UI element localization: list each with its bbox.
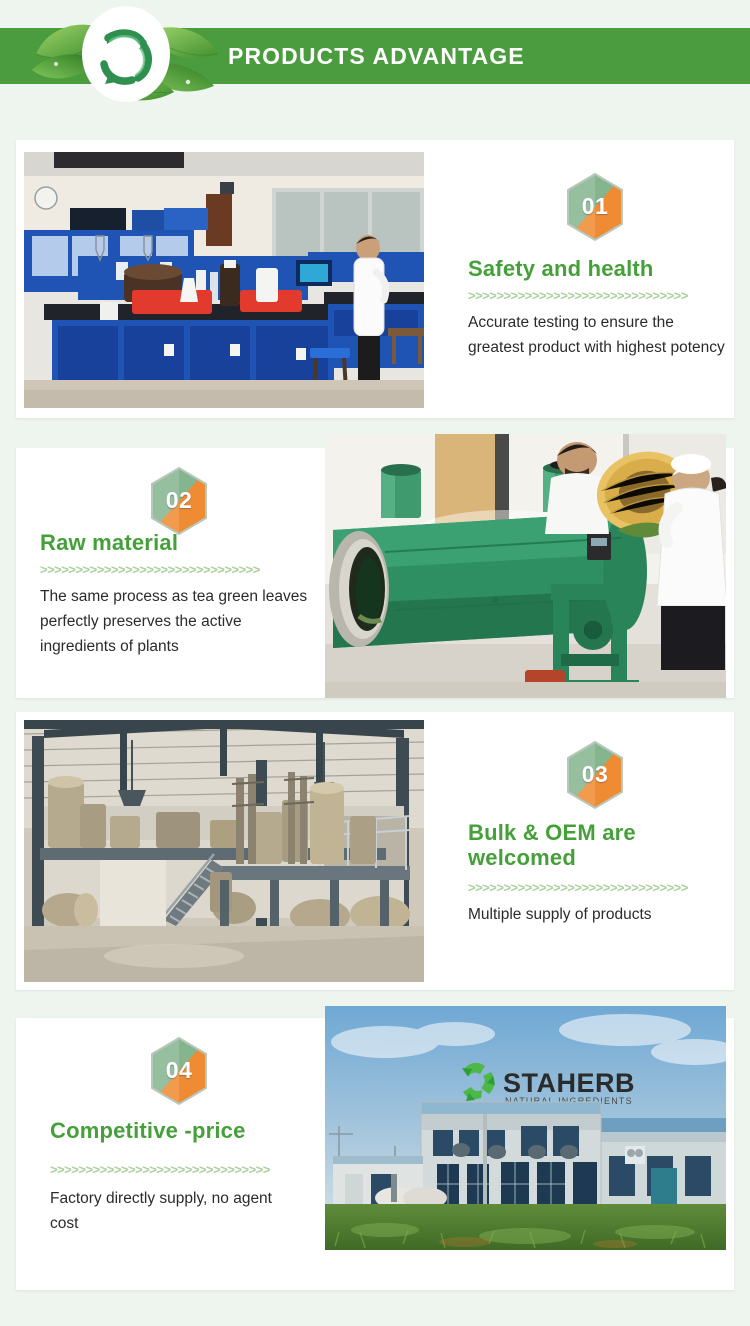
tea-processing-machine-photo	[325, 434, 726, 698]
advantage-card-03: 03 Bulk & OEM are welcomed >>>>>>>>>>>>>…	[16, 712, 734, 990]
advantage-title-02: Raw material	[40, 530, 300, 555]
chevron-divider-03: >>>>>>>>>>>>>>>>>>>>>>>>>>>>>>>	[468, 880, 722, 895]
advantage-content-01: 01 Safety and health >>>>>>>>>>>>>>>>>>>…	[436, 140, 734, 418]
factory-building-exterior-photo: STAHERB NATURAL INGREDIENTS	[325, 1006, 726, 1250]
advantage-content-04: 04 Competitive -price >>>>>>>>>>>>>>>>>>…	[16, 1018, 316, 1290]
advantage-body-04: Factory directly supply, no agent cost	[50, 1186, 300, 1236]
advantage-title-03: Bulk & OEM are welcomed	[468, 820, 698, 870]
advantage-card-02: 02 Raw material >>>>>>>>>>>>>>>>>>>>>>>>…	[16, 448, 734, 698]
badge-number-03: 03	[564, 740, 626, 810]
svg-text:STAHERB: STAHERB	[503, 1068, 635, 1098]
extraction-factory-interior-photo	[24, 720, 424, 982]
badge-hexagon-01: 01	[564, 172, 626, 242]
page-header: PRODUCTS ADVANTAGE	[0, 0, 750, 110]
badge-number-02: 02	[148, 466, 210, 536]
advantage-body-01: Accurate testing to ensure the greatest …	[468, 310, 730, 360]
advantage-title-01: Safety and health	[468, 256, 718, 281]
advantage-card-04: 04 Competitive -price >>>>>>>>>>>>>>>>>>…	[16, 1018, 734, 1290]
advantage-content-03: 03 Bulk & OEM are welcomed >>>>>>>>>>>>>…	[436, 712, 734, 990]
advantage-content-02: 02 Raw material >>>>>>>>>>>>>>>>>>>>>>>>…	[16, 448, 316, 698]
badge-number-04: 04	[148, 1036, 210, 1106]
staherb-leaf-logo	[28, 2, 228, 110]
advantage-body-02: The same process as tea green leaves per…	[40, 584, 320, 659]
advantage-title-04: Competitive -price	[50, 1118, 314, 1143]
advantage-body-03: Multiple supply of products	[468, 902, 718, 927]
laboratory-photo	[24, 152, 424, 408]
badge-hexagon-04: 04	[148, 1036, 210, 1106]
page-title: PRODUCTS ADVANTAGE	[228, 28, 525, 84]
badge-hexagon-02: 02	[148, 466, 210, 536]
chevron-divider-01: >>>>>>>>>>>>>>>>>>>>>>>>>>>>>>>	[468, 288, 722, 303]
chevron-divider-04: >>>>>>>>>>>>>>>>>>>>>>>>>>>>>>>	[50, 1162, 304, 1177]
chevron-divider-02: >>>>>>>>>>>>>>>>>>>>>>>>>>>>>>>	[40, 562, 294, 577]
badge-hexagon-03: 03	[564, 740, 626, 810]
advantage-card-01: 01 Safety and health >>>>>>>>>>>>>>>>>>>…	[16, 140, 734, 418]
products-advantage-page: PRODUCTS ADVANTAGE	[0, 0, 750, 1326]
badge-number-01: 01	[564, 172, 626, 242]
